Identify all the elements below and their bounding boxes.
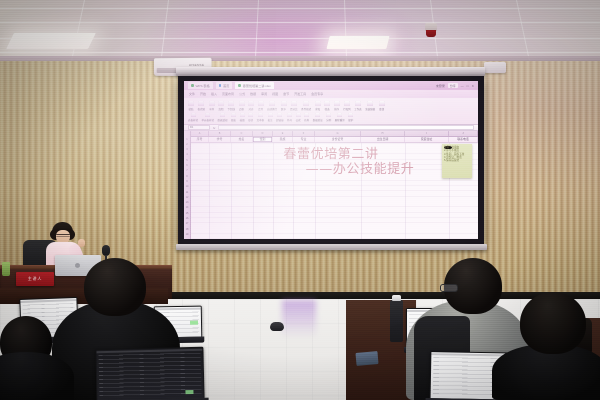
- freeze-panes-icon: [367, 101, 373, 107]
- ribbon-button[interactable]: 对齐: [248, 101, 254, 112]
- ribbon-button-label: 表格样式: [188, 118, 198, 122]
- ribbon-button-label: 保护: [348, 118, 353, 122]
- suspended-ceiling: [0, 0, 600, 62]
- column-header[interactable]: G: [315, 131, 361, 136]
- table-style-icon: [191, 113, 196, 118]
- close-icon[interactable]: ✕: [471, 84, 474, 88]
- ribbon-button[interactable]: 图表: [231, 113, 236, 123]
- ribbon-button[interactable]: 数据验证: [313, 113, 323, 123]
- highlighted-cell: [185, 390, 193, 394]
- ribbon-button[interactable]: 超链接: [276, 113, 284, 123]
- paste-icon: [188, 101, 194, 107]
- column-header[interactable]: A: [191, 131, 209, 136]
- header-cell[interactable]: 民族: [273, 137, 293, 142]
- doc-tab-wps[interactable]: WPS 表格: [188, 82, 213, 89]
- titlebar-share-button[interactable]: 分享: [448, 83, 458, 88]
- grid-main-area[interactable]: A B C D E F G H I J 序号 学号 姓名: [191, 131, 478, 239]
- font-icon: [209, 101, 215, 107]
- titlebar-right-cluster: 未登录 分享 — □ ✕: [436, 83, 474, 88]
- ribbon-button[interactable]: 筛选: [324, 101, 330, 112]
- ribbon-button[interactable]: 格式刷: [198, 101, 206, 112]
- menu-item[interactable]: 公式: [239, 92, 245, 96]
- ribbon-button-label: 自动换行: [267, 107, 277, 111]
- column-header[interactable]: J: [449, 131, 478, 136]
- text-to-columns-icon: [326, 113, 331, 118]
- ribbon-button-label: 行和列: [343, 107, 351, 111]
- sticky-note-comment[interactable]: 注意： 1.序号用填充 2.序号不能乱 3.性别、民族下拉 4.身份证、电话 5…: [442, 144, 472, 178]
- cell-area[interactable]: [191, 143, 478, 239]
- doc-tab-home[interactable]: 首页: [216, 82, 233, 89]
- audience-member-front-center-head: [84, 258, 146, 316]
- menu-item[interactable]: 数据: [250, 92, 256, 96]
- ribbon-button[interactable]: 工作表: [354, 101, 362, 112]
- row-header-gutter: 1 2 3 4 5 6 7 8 9 10 11 12 13 14 15 16 1: [184, 131, 191, 239]
- autosum-icon: [315, 101, 321, 107]
- ribbon-button-label: 百分比: [290, 107, 298, 111]
- hyperlink-icon: [277, 113, 282, 118]
- row-number[interactable]: 19: [186, 232, 189, 237]
- ribbon-button-label: 超链接: [276, 118, 284, 122]
- ribbon-button-label: 单元格样式: [202, 118, 215, 122]
- ribbon-button[interactable]: 表格样式: [188, 113, 198, 123]
- minimize-icon[interactable]: —: [461, 84, 464, 88]
- doc-tab-label: WPS 表格: [196, 83, 210, 88]
- filter-icon: [324, 101, 330, 107]
- home-icon: [219, 84, 222, 87]
- ribbon-button-label: 筛选: [325, 107, 330, 111]
- classroom-photo-scene: HISENSE WPS 表格 首页 春蕾优培第二讲.xlsx: [0, 0, 600, 400]
- ribbon-button-label: 对齐: [249, 107, 254, 111]
- ribbon-button[interactable]: 单元格样式: [202, 113, 215, 123]
- computer-mouse: [270, 322, 284, 331]
- formula-icon: [296, 113, 301, 118]
- conditional-format-icon: [303, 101, 309, 107]
- presenter-hand: [78, 239, 85, 247]
- ribbon-row-secondary: 表格样式 单元格样式 数据透视 图表 插图 形状 文本框 批注 超链接 符号 公…: [188, 111, 474, 122]
- menu-item[interactable]: 开发工具: [294, 92, 306, 96]
- ribbon-button-label: 粘贴: [188, 107, 193, 111]
- glasses-icon: [440, 284, 458, 292]
- format-painter-icon: [198, 101, 204, 107]
- app-titlebar: WPS 表格 首页 春蕾优培第二讲.xlsx 未登录 分享 — □ ✕: [184, 81, 478, 90]
- projector-screen-housing: [176, 67, 485, 76]
- ceiling-grid-line: [0, 8, 600, 9]
- column-header[interactable]: B: [209, 131, 231, 136]
- ceiling-light-panel-left: [6, 33, 96, 49]
- comment-icon: [268, 113, 273, 118]
- audience-member-far-right-head: [520, 292, 586, 354]
- header-cell[interactable]: 学号: [209, 137, 231, 142]
- ribbon-button-label: 公式: [296, 118, 301, 122]
- border-icon: [239, 101, 245, 107]
- cell-style-icon: [205, 113, 210, 118]
- ribbon-button-label: 数字: [281, 107, 286, 111]
- ribbon-button-label: 查找: [379, 107, 384, 111]
- maximize-icon[interactable]: □: [467, 84, 469, 88]
- projected-spreadsheet-app[interactable]: WPS 表格 首页 春蕾优培第二讲.xlsx 未登录 分享 — □ ✕: [184, 81, 478, 239]
- ribbon-menu-bar: 文件 开始 插入 页面布局 公式 数据 审阅 视图 章节 开发工具 会员专享: [184, 90, 478, 98]
- align-icon: [248, 101, 254, 107]
- header-cell-selected[interactable]: 性别: [253, 137, 273, 142]
- header-cell[interactable]: 家庭住址: [405, 137, 449, 142]
- column-header[interactable]: H: [361, 131, 405, 136]
- ribbon-button[interactable]: 条件格式: [301, 101, 311, 112]
- ribbon-button-label: 边框: [239, 107, 244, 111]
- air-conditioner-unit-right: [484, 62, 506, 73]
- highlighted-cell: [190, 321, 198, 325]
- ribbon-button-label: 求和: [315, 107, 320, 111]
- header-cell[interactable]: 出生日期: [361, 137, 405, 142]
- nameplate-label: 主讲人: [28, 276, 42, 282]
- picture-icon: [240, 113, 245, 118]
- sheet-icon: [238, 84, 241, 87]
- ribbon-button-label: 删除重复: [335, 118, 345, 122]
- laptop-logo: [75, 263, 80, 268]
- column-header[interactable]: E: [273, 131, 293, 136]
- header-cell[interactable]: 序号: [191, 137, 209, 142]
- spreadsheet-grid[interactable]: 1 2 3 4 5 6 7 8 9 10 11 12 13 14 15 16 1: [184, 131, 478, 239]
- formula-bar: D1 fx: [184, 124, 478, 131]
- ribbon-button[interactable]: 行和列: [343, 101, 351, 112]
- projector-spill-light: [282, 300, 316, 338]
- ribbon-button[interactable]: 排序: [334, 101, 340, 112]
- projector-screen: WPS 表格 首页 春蕾优培第二讲.xlsx 未登录 分享 — □ ✕: [178, 76, 484, 244]
- ribbon-button-label: 加粗: [219, 107, 224, 111]
- menu-item[interactable]: 审阅: [261, 92, 267, 96]
- ribbon-row-primary: 粘贴 格式刷 字体 加粗 下划线 边框 对齐 合并 自动换行 数字 百分比 条件…: [188, 99, 474, 111]
- menu-item[interactable]: 视图: [272, 92, 278, 96]
- ribbon-button[interactable]: 粘贴: [188, 101, 194, 112]
- pivot-table-icon: [220, 113, 225, 118]
- ribbon-button-label: 冻结窗格: [365, 107, 375, 111]
- worksheet-icon: [355, 101, 361, 107]
- ribbon-button-label: 分列: [326, 118, 331, 122]
- ribbon-button[interactable]: 加粗: [218, 101, 224, 112]
- header-cell[interactable]: 专业: [293, 137, 315, 142]
- shape-icon: [248, 113, 253, 118]
- ribbon-button-label: 数据验证: [313, 118, 323, 122]
- laptop-screen: [97, 348, 204, 400]
- underline-icon: [228, 101, 234, 107]
- green-cup: [2, 262, 10, 276]
- wps-icon: [191, 84, 194, 87]
- bold-icon: [218, 101, 224, 107]
- laptop-screen-toolbar: [155, 308, 201, 311]
- ribbon-button-label: 符号: [287, 118, 292, 122]
- menu-item[interactable]: 开始: [200, 92, 206, 96]
- bottle-cap: [392, 295, 401, 301]
- ribbon-button-label: 形状: [248, 118, 253, 122]
- ribbon-button-label: 条件格式: [301, 107, 311, 111]
- ribbon-button-label: 格式刷: [198, 107, 206, 111]
- ribbon-toolbar: 粘贴 格式刷 字体 加粗 下划线 边框 对齐 合并 自动换行 数字 百分比 条件…: [184, 98, 478, 124]
- ribbon-button-label: 工作表: [354, 107, 362, 111]
- doc-tab-label: 春蕾优培第二讲.xlsx: [243, 83, 271, 88]
- menu-item[interactable]: 插入: [211, 92, 217, 96]
- ribbon-button-label: 批注: [268, 118, 273, 122]
- column-header[interactable]: I: [405, 131, 449, 136]
- formula-input[interactable]: [218, 125, 474, 130]
- titlebar-login-state[interactable]: 未登录: [436, 84, 445, 88]
- column-header[interactable]: F: [293, 131, 315, 136]
- water-bottle: [390, 300, 403, 342]
- sort-icon: [334, 101, 340, 107]
- ribbon-button[interactable]: 分列: [326, 113, 331, 123]
- fx-icon[interactable]: fx: [213, 126, 215, 130]
- number-format-icon: [281, 101, 287, 107]
- column-header[interactable]: C: [231, 131, 253, 136]
- ribbon-button[interactable]: 下划线: [228, 101, 236, 112]
- ribbon-button[interactable]: 查找: [379, 101, 385, 112]
- audience-laptop-foreground-left[interactable]: [95, 347, 204, 400]
- ribbon-button[interactable]: 冻结窗格: [365, 101, 375, 112]
- ribbon-button[interactable]: 批注: [268, 113, 273, 123]
- rows-columns-icon: [344, 101, 350, 107]
- ribbon-button[interactable]: 公式: [296, 113, 301, 123]
- protect-sheet-icon: [348, 113, 353, 118]
- chart-icon: [231, 113, 236, 118]
- merge-cells-icon: [258, 101, 264, 107]
- ribbon-button[interactable]: 字体: [209, 101, 215, 112]
- menu-item[interactable]: 会员专享: [311, 92, 323, 96]
- ribbon-button[interactable]: 文本框: [257, 113, 265, 123]
- glasses-icon: [56, 234, 70, 237]
- percent-icon: [291, 101, 297, 107]
- remove-duplicates-icon: [337, 113, 342, 118]
- ribbon-button-label: 下划线: [228, 107, 236, 111]
- ribbon-button[interactable]: 符号: [287, 113, 292, 123]
- sticky-note-line: 注意：: [444, 146, 452, 149]
- ribbon-button-label: 文本框: [257, 118, 265, 122]
- menu-item[interactable]: 页面布局: [222, 92, 234, 96]
- ribbon-button-label: 数据透视: [218, 118, 228, 122]
- menu-item[interactable]: 文件: [189, 92, 195, 96]
- ribbon-button-label: 图表: [231, 118, 236, 122]
- ribbon-button[interactable]: 数据透视: [218, 113, 228, 123]
- doc-tab-label: 首页: [223, 83, 229, 88]
- textbox-icon: [258, 113, 263, 118]
- ribbon-button-label: 名称: [304, 118, 309, 122]
- ribbon-button[interactable]: 名称: [304, 113, 309, 123]
- name-box-input[interactable]: D1: [188, 125, 210, 130]
- ribbon-button[interactable]: 求和: [315, 101, 321, 112]
- header-cell[interactable]: 身份证号: [315, 137, 361, 142]
- projector-screen-bottom-bar: [176, 244, 487, 250]
- ribbon-button[interactable]: 合并: [258, 101, 264, 112]
- name-manager-icon: [304, 113, 309, 118]
- smoke-detector-icon: [425, 23, 437, 38]
- smartphone: [355, 351, 378, 366]
- column-header[interactable]: D: [253, 131, 273, 136]
- ribbon-button[interactable]: 自动换行: [267, 101, 277, 112]
- doc-tab-active-workbook[interactable]: 春蕾优培第二讲.xlsx: [235, 82, 273, 89]
- header-cell[interactable]: 联系电话: [449, 137, 478, 142]
- ribbon-button-label: 合并: [258, 107, 263, 111]
- ribbon-button-label: 插图: [240, 118, 245, 122]
- header-cell[interactable]: 姓名: [231, 137, 253, 142]
- find-icon: [379, 101, 385, 107]
- ribbon-button[interactable]: 保护: [348, 113, 353, 123]
- ribbon-button[interactable]: 插图: [240, 113, 245, 123]
- ribbon-button[interactable]: 删除重复: [335, 113, 345, 123]
- data-validation-icon: [315, 113, 320, 118]
- ribbon-button[interactable]: 边框: [239, 101, 245, 112]
- ribbon-button[interactable]: 形状: [248, 113, 253, 123]
- ribbon-button[interactable]: 百分比: [290, 101, 298, 112]
- ceiling-grid-line: [0, 52, 600, 53]
- wrap-text-icon: [269, 101, 275, 107]
- ribbon-button-label: 字体: [209, 107, 214, 111]
- symbol-icon: [287, 113, 292, 118]
- laptop-lid: [95, 347, 204, 400]
- desk-nameplate: 主讲人: [16, 272, 54, 286]
- ceiling-grid-line: [0, 22, 600, 23]
- sticky-note-line: 5.保存后提交: [444, 159, 470, 162]
- menu-item[interactable]: 章节: [283, 92, 289, 96]
- ceiling-light-panel-right: [326, 36, 389, 49]
- ribbon-button[interactable]: 数字: [281, 101, 287, 112]
- smoke-detector-led: [426, 30, 436, 37]
- ribbon-button-label: 排序: [334, 107, 339, 111]
